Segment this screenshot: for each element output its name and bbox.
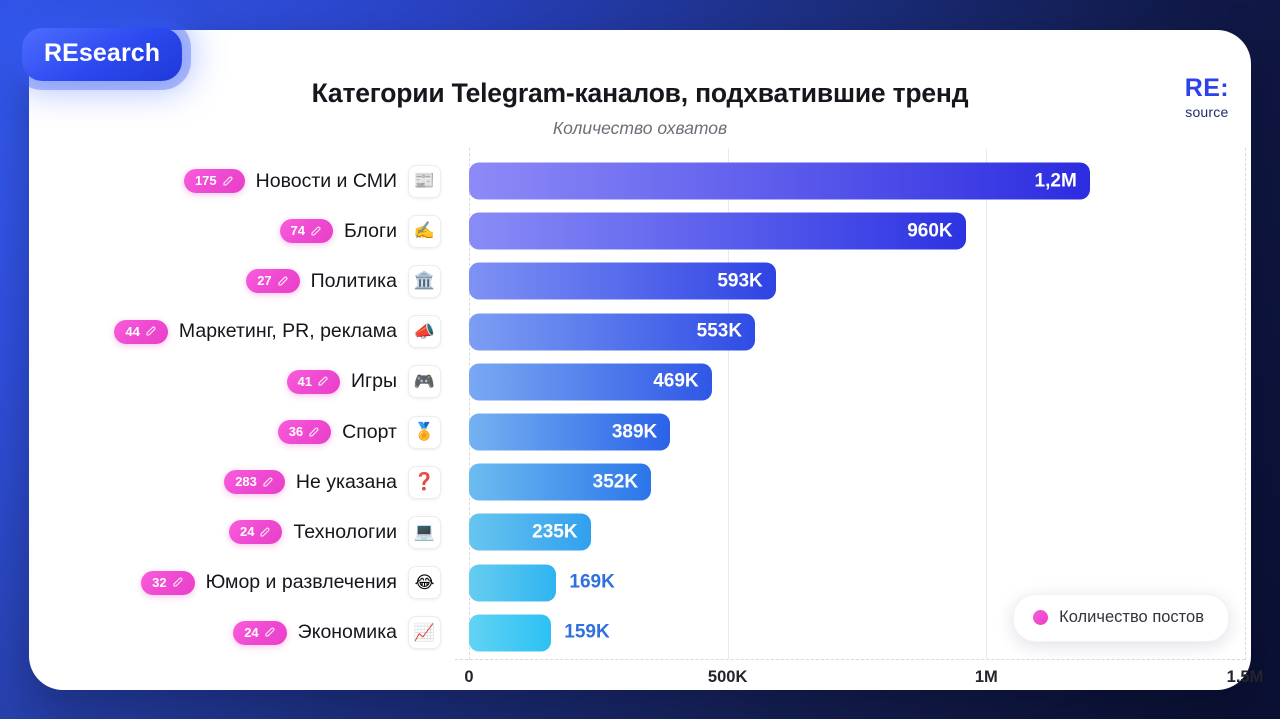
chart-row: 283Не указана❓352K — [29, 457, 1251, 507]
category-label-group: 283Не указана❓ — [29, 466, 455, 499]
legend-label: Количество постов — [1059, 608, 1204, 627]
post-count-badge[interactable]: 44 — [114, 320, 167, 344]
category-name: Политика — [311, 270, 397, 293]
post-count-value: 44 — [125, 325, 139, 338]
category-label-group: 44Маркетинг, PR, реклама📣 — [29, 315, 455, 348]
chart-legend: Количество постов — [1013, 594, 1229, 642]
axis-tick-label: 1,5M — [1227, 668, 1264, 687]
post-count-value: 283 — [235, 475, 257, 488]
classical-building-icon: 🏛️ — [408, 265, 441, 298]
chart-row: 175Новости и СМИ📰1,2M — [29, 156, 1251, 206]
axis-tick-label: 0 — [464, 668, 473, 687]
category-name: Технологии — [293, 521, 397, 544]
post-count-badge[interactable]: 27 — [246, 269, 299, 293]
post-count-badge[interactable]: 36 — [278, 420, 331, 444]
category-label-group: 27Политика🏛️ — [29, 265, 455, 298]
post-count-badge[interactable]: 41 — [287, 370, 340, 394]
page-title: Категории Telegram-каналов, подхватившие… — [29, 78, 1251, 109]
x-axis: 0500K1M1,5M — [455, 668, 1245, 698]
bar-track: 593K — [455, 256, 1251, 306]
post-count-value: 27 — [257, 274, 271, 287]
category-label-group: 24Технологии💻 — [29, 516, 455, 549]
bar[interactable]: 169K — [469, 564, 556, 601]
bar-value-label: 960K — [907, 220, 952, 242]
category-name: Маркетинг, PR, реклама — [179, 320, 397, 343]
post-count-badge[interactable]: 283 — [224, 470, 285, 494]
bar-value-label: 389K — [612, 421, 657, 443]
category-name: Новости и СМИ — [256, 170, 397, 193]
category-label-group: 175Новости и СМИ📰 — [29, 165, 455, 198]
bar-rows: 175Новости и СМИ📰1,2M74Блоги✍️960K27Поли… — [29, 156, 1251, 658]
axis-baseline — [455, 659, 1245, 660]
category-label-group: 36Спорт🏅 — [29, 416, 455, 449]
bar-track: 553K — [455, 307, 1251, 357]
bar[interactable]: 159K — [469, 614, 551, 651]
bar[interactable]: 389K — [469, 414, 670, 451]
post-count-value: 36 — [289, 425, 303, 438]
post-count-value: 32 — [152, 576, 166, 589]
laughing-face-icon: 😂 — [408, 566, 441, 599]
category-label-group: 41Игры🎮 — [29, 365, 455, 398]
post-count-badge[interactable]: 32 — [141, 571, 194, 595]
bar-value-label: 169K — [569, 572, 614, 594]
axis-tick-label: 500K — [708, 668, 747, 687]
writing-hand-icon: ✍️ — [408, 215, 441, 248]
chart-row: 27Политика🏛️593K — [29, 256, 1251, 306]
post-count-badge[interactable]: 24 — [229, 520, 282, 544]
bar-value-label: 469K — [653, 371, 698, 393]
category-name: Спорт — [342, 421, 397, 444]
edit-pencil-icon — [277, 275, 289, 287]
chart-row: 74Блоги✍️960K — [29, 206, 1251, 256]
bar[interactable]: 352K — [469, 464, 651, 501]
post-count-badge[interactable]: 175 — [184, 169, 245, 193]
chart-row: 41Игры🎮469K — [29, 357, 1251, 407]
bar-track: 235K — [455, 507, 1251, 557]
question-mark-icon: ❓ — [408, 466, 441, 499]
bar[interactable]: 1,2M — [469, 163, 1090, 200]
edit-pencil-icon — [310, 225, 322, 237]
category-label-group: 24Экономика📈 — [29, 616, 455, 649]
edit-pencil-icon — [317, 375, 329, 387]
category-name: Экономика — [298, 621, 397, 644]
bar-value-label: 553K — [697, 321, 742, 343]
bar-value-label: 352K — [593, 471, 638, 493]
post-count-badge[interactable]: 24 — [233, 621, 286, 645]
infographic-canvas: REsearch Категории Telegram-каналов, под… — [0, 0, 1280, 719]
laptop-icon: 💻 — [408, 516, 441, 549]
post-count-value: 41 — [298, 375, 312, 388]
edit-pencil-icon — [145, 325, 157, 337]
bar-value-label: 235K — [532, 521, 577, 543]
category-name: Не указана — [296, 471, 397, 494]
research-brand-badge: REsearch — [22, 28, 182, 81]
edit-pencil-icon — [222, 175, 234, 187]
edit-pencil-icon — [264, 626, 276, 638]
logo-re-text: RE: — [1185, 76, 1229, 101]
chart-row: 36Спорт🏅389K — [29, 407, 1251, 457]
category-label-group: 74Блоги✍️ — [29, 215, 455, 248]
bar[interactable]: 235K — [469, 514, 591, 551]
post-count-value: 24 — [244, 626, 258, 639]
bar-value-label: 159K — [564, 622, 609, 644]
chart-card: Категории Telegram-каналов, подхватившие… — [29, 30, 1251, 690]
bar-track: 469K — [455, 357, 1251, 407]
legend-dot-icon — [1033, 610, 1048, 625]
chart-row: 44Маркетинг, PR, реклама📣553K — [29, 307, 1251, 357]
chart-header: Категории Telegram-каналов, подхватившие… — [29, 30, 1251, 148]
page-subtitle: Количество охватов — [29, 118, 1251, 139]
megaphone-icon: 📣 — [408, 315, 441, 348]
bar-track: 352K — [455, 457, 1251, 507]
bar-track: 389K — [455, 407, 1251, 457]
bar[interactable]: 593K — [469, 263, 776, 300]
game-controller-icon: 🎮 — [408, 365, 441, 398]
bar-track: 960K — [455, 206, 1251, 256]
edit-pencil-icon — [172, 576, 184, 588]
post-count-badge[interactable]: 74 — [280, 219, 333, 243]
bar-value-label: 593K — [717, 270, 762, 292]
category-name: Блоги — [344, 220, 397, 243]
bar[interactable]: 960K — [469, 213, 966, 250]
bar-value-label: 1,2M — [1035, 170, 1077, 192]
bar[interactable]: 553K — [469, 313, 755, 350]
axis-tick-label: 1M — [975, 668, 998, 687]
newspaper-icon: 📰 — [408, 165, 441, 198]
edit-pencil-icon — [308, 426, 320, 438]
medal-icon: 🏅 — [408, 416, 441, 449]
logo-source-text: source — [1185, 105, 1229, 119]
bar-track: 1,2M — [455, 156, 1251, 206]
chart-row: 24Технологии💻235K — [29, 507, 1251, 557]
resource-logo: RE: source — [1185, 76, 1229, 119]
chart-increasing-icon: 📈 — [408, 616, 441, 649]
category-name: Игры — [351, 370, 397, 393]
edit-pencil-icon — [262, 476, 274, 488]
category-name: Юмор и развлечения — [206, 571, 397, 594]
post-count-value: 175 — [195, 174, 217, 187]
post-count-value: 24 — [240, 525, 254, 538]
bar[interactable]: 469K — [469, 363, 712, 400]
post-count-value: 74 — [291, 224, 305, 237]
category-label-group: 32Юмор и развлечения😂 — [29, 566, 455, 599]
edit-pencil-icon — [259, 526, 271, 538]
